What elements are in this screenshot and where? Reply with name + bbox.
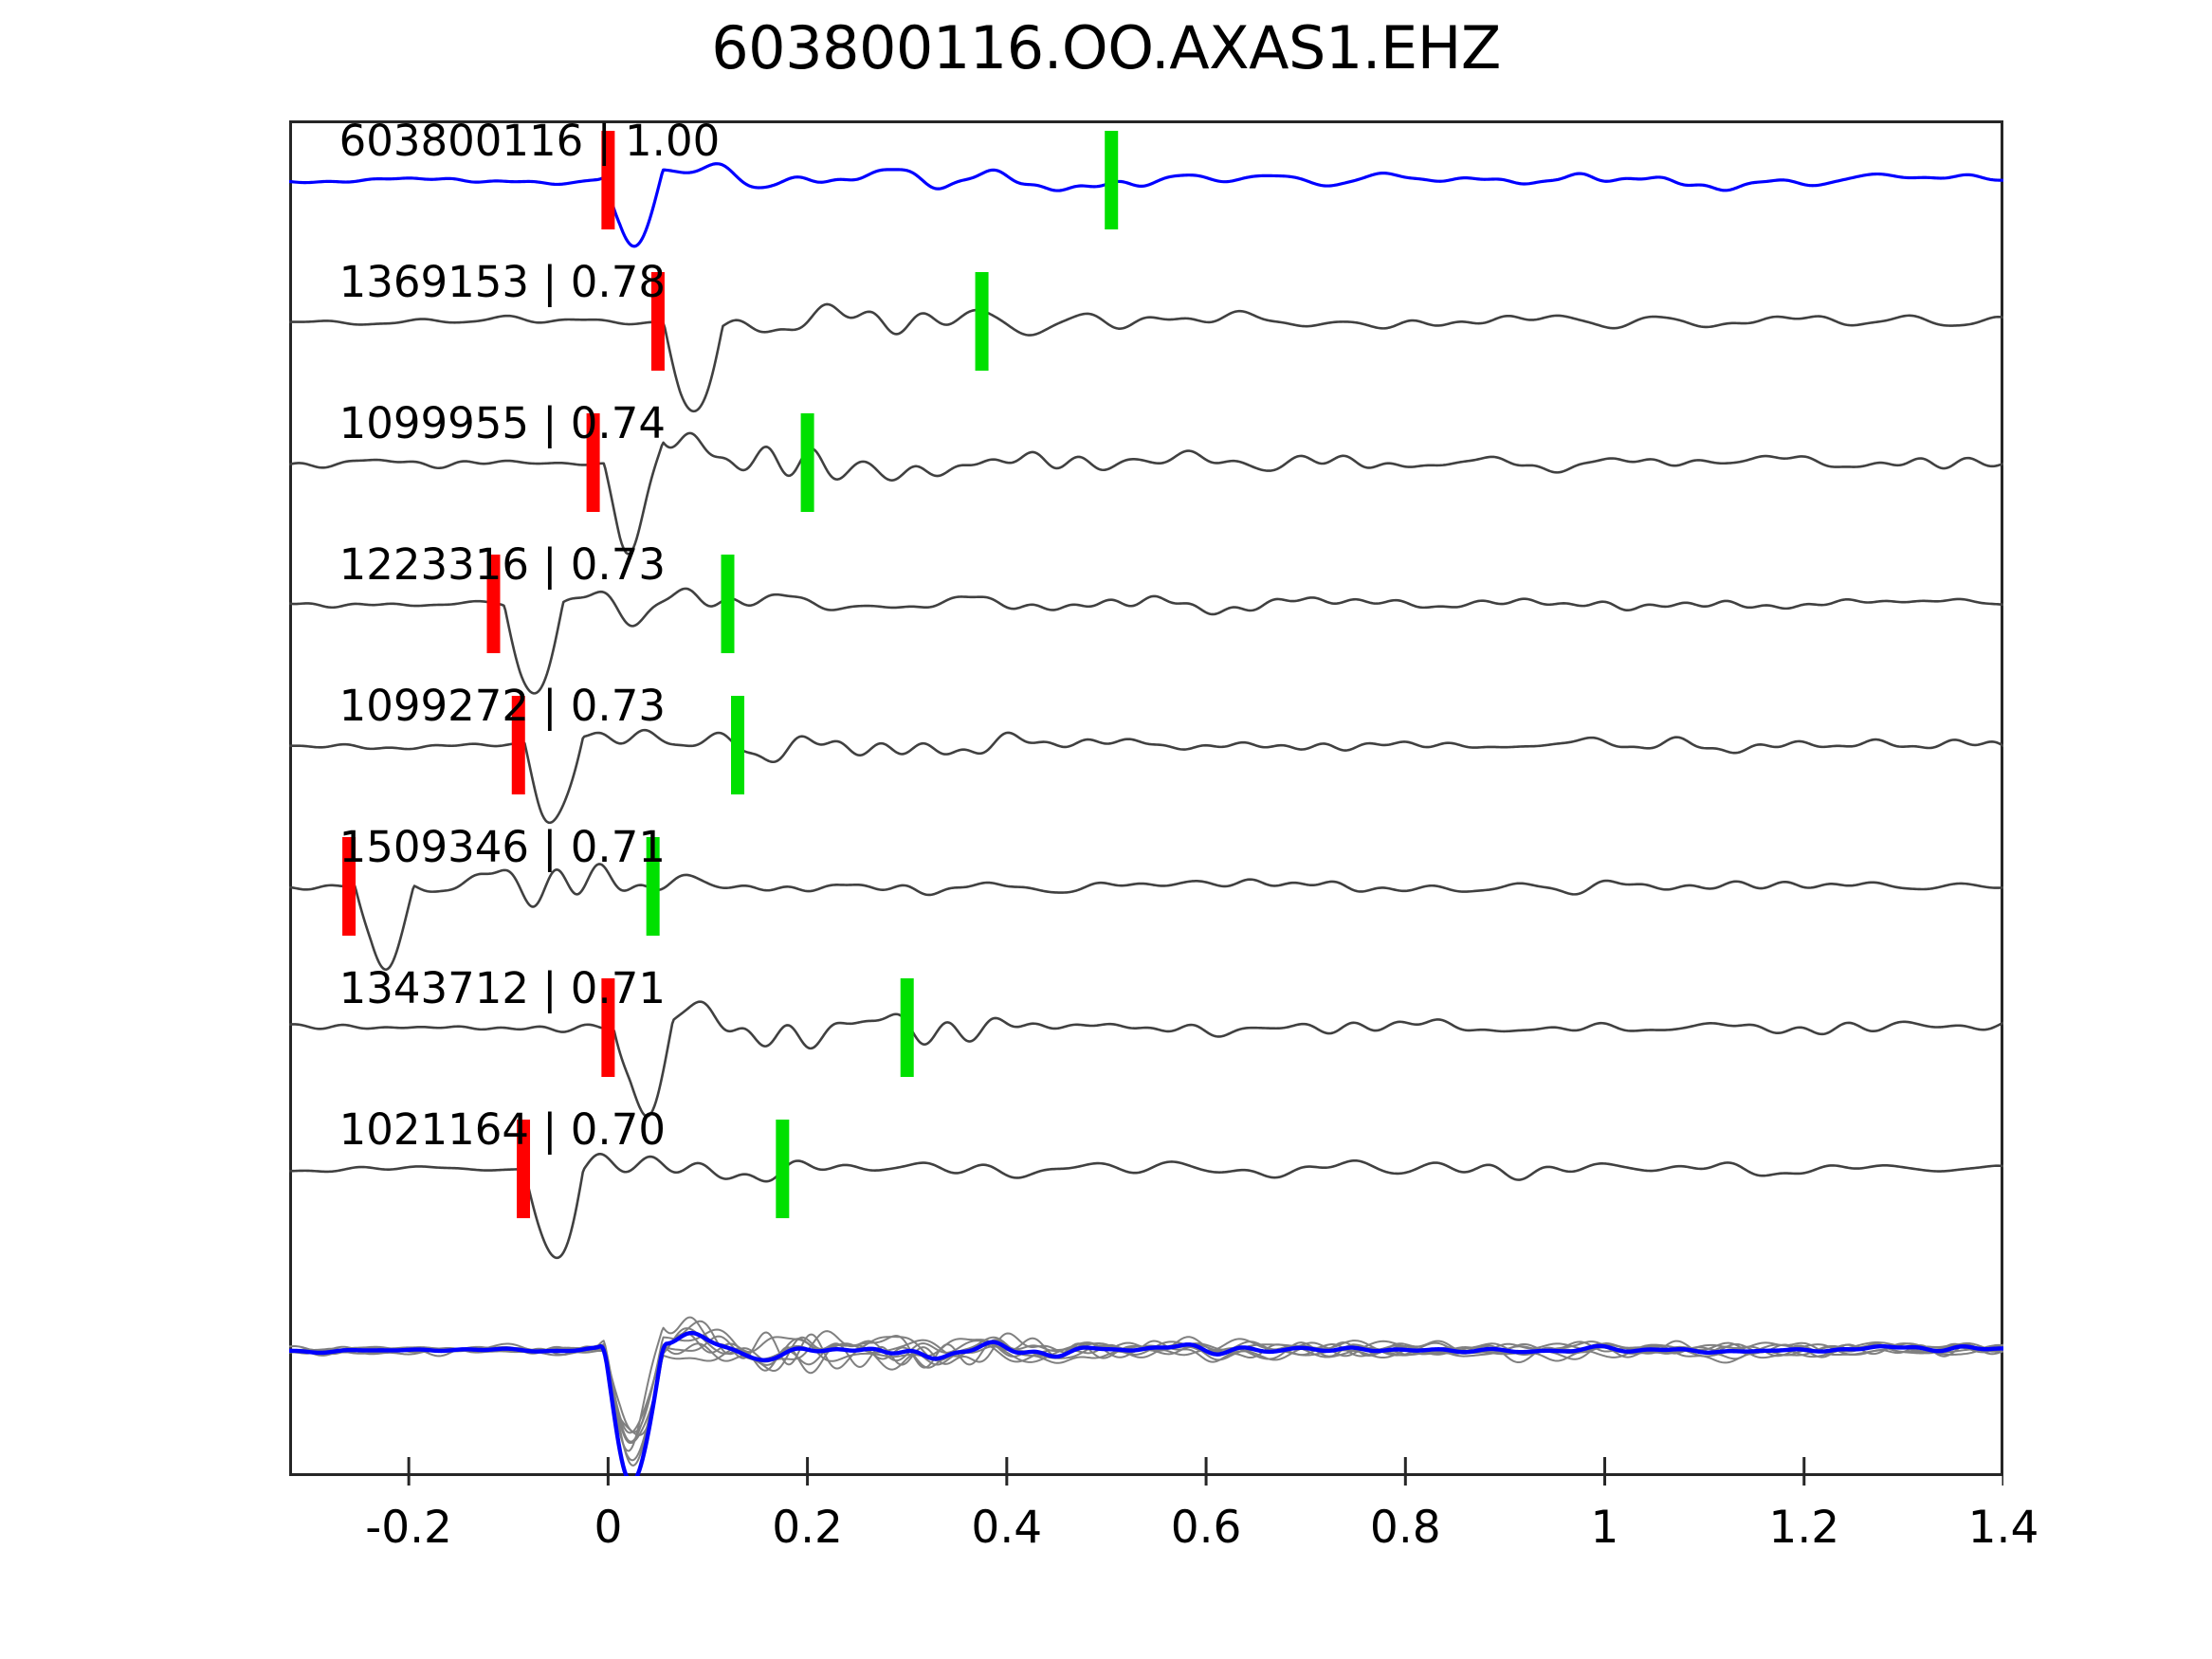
- waveform-line: [289, 1002, 2003, 1117]
- x-tick-label: 0.6: [1171, 1502, 1242, 1554]
- trace-label-1509346: 1509346 | 0.71: [339, 822, 666, 872]
- s-pick-marker[interactable]: [722, 555, 735, 653]
- s-pick-marker[interactable]: [1105, 131, 1118, 229]
- trace-label-1099955: 1099955 | 0.74: [339, 398, 666, 448]
- x-tick-label: 0.2: [772, 1502, 843, 1554]
- waveform-line: [289, 730, 2003, 823]
- stack-member-line: [289, 1318, 2003, 1451]
- s-pick-marker[interactable]: [976, 272, 989, 371]
- x-tick-label: 1.4: [1968, 1502, 2039, 1554]
- waveform-line: [289, 589, 2003, 694]
- waveform-line: [289, 1154, 2003, 1258]
- trace-label-1369153: 1369153 | 0.78: [339, 257, 666, 307]
- stack-member-line: [289, 1322, 2003, 1435]
- x-tick-marks: [289, 1457, 2003, 1486]
- waveform-line: [289, 433, 2003, 554]
- s-pick-marker[interactable]: [776, 1120, 789, 1218]
- x-tick-label: 0: [594, 1502, 622, 1554]
- trace-label-1021164: 1021164 | 0.70: [339, 1104, 666, 1155]
- trace-label-1099272: 1099272 | 0.73: [339, 681, 666, 731]
- waveform-plot: 603800116 | 1.001369153 | 0.781099955 | …: [289, 120, 2003, 1476]
- trace-label-603800116: 603800116 | 1.00: [339, 116, 721, 166]
- x-tick-label: 0.4: [971, 1502, 1042, 1554]
- waveform-line: [289, 864, 2003, 969]
- waveform-line: [289, 304, 2003, 411]
- waveform-line: [289, 164, 2003, 246]
- x-tick-label: 1: [1591, 1502, 1619, 1554]
- trace-label-1343712: 1343712 | 0.71: [339, 963, 666, 1013]
- page-title: 603800116.OO.AXAS1.EHZ: [0, 13, 2212, 82]
- stack-panel: [289, 1318, 2003, 1476]
- x-tick-label: -0.2: [365, 1502, 452, 1554]
- x-tick-label: 1.2: [1768, 1502, 1839, 1554]
- x-axis-tick-labels: -0.200.20.40.60.811.21.4: [289, 1488, 2003, 1564]
- s-pick-marker[interactable]: [801, 413, 814, 512]
- x-tick-label: 0.8: [1370, 1502, 1441, 1554]
- trace-label-1223316: 1223316 | 0.73: [339, 539, 666, 590]
- figure-canvas: 603800116.OO.AXAS1.EHZ 603800116 | 1.001…: [0, 0, 2212, 1659]
- s-pick-marker[interactable]: [901, 978, 914, 1077]
- s-pick-marker[interactable]: [731, 696, 744, 794]
- waveform-canvas: [289, 120, 2003, 1476]
